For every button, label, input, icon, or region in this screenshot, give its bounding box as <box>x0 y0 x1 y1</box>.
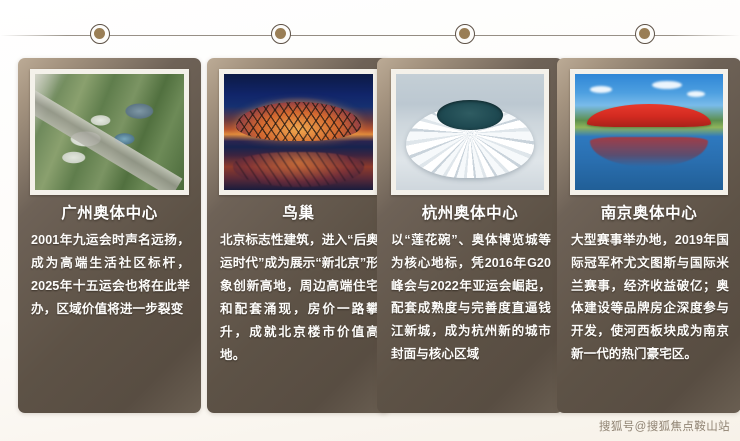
birds-nest-stadium-night-photo <box>224 74 373 190</box>
hangzhou-olympic-sports-center-lotus-bowl-photo <box>396 74 544 190</box>
watermark: 搜狐号@搜狐焦点鞍山站 <box>599 418 730 434</box>
card-body: 北京标志性建筑，进入“后奥运时代”成为展示“新北京”形象创新高地，周边高端住宅和… <box>220 229 379 366</box>
card-title: 广州奥体中心 <box>18 201 201 223</box>
card-list: 广州奥体中心 2001年九运会时声名远扬，成为高端生活社区标杆，2025年十五运… <box>0 58 740 418</box>
photo-frame <box>30 69 189 195</box>
card-body: 大型赛事举办地，2019年国际冠军杯尤文图斯与国际米兰赛事，经济收益破亿；奥体建… <box>571 229 729 366</box>
infographic-page: 广州奥体中心 2001年九运会时声名远扬，成为高端生活社区标杆，2025年十五运… <box>0 0 740 441</box>
card-body: 2001年九运会时声名远扬，成为高端生活社区标杆，2025年十五运会也将在此举办… <box>31 229 190 321</box>
card-birds-nest[interactable]: 鸟巢 北京标志性建筑，进入“后奥运时代”成为展示“新北京”形象创新高地，周边高端… <box>207 58 390 413</box>
photo-frame <box>570 69 728 195</box>
timeline-dot-2[interactable] <box>271 24 291 44</box>
timeline-dot-3[interactable] <box>455 24 475 44</box>
card-body: 以“莲花碗”、奥体博览城等为核心地标，凭2016年G20峰会与2022年亚运会崛… <box>391 229 551 366</box>
nanjing-olympic-sports-center-photo <box>575 74 723 190</box>
card-nanjing[interactable]: 南京奥体中心 大型赛事举办地，2019年国际冠军杯尤文图斯与国际米兰赛事，经济收… <box>557 58 740 413</box>
cloud-icon <box>590 86 612 93</box>
photo-frame <box>219 69 378 195</box>
cloud-icon <box>687 91 705 97</box>
timeline-dot-4[interactable] <box>635 24 655 44</box>
timeline-dot-1[interactable] <box>90 24 110 44</box>
card-hangzhou[interactable]: 杭州奥体中心 以“莲花碗”、奥体博览城等为核心地标，凭2016年G20峰会与20… <box>377 58 563 413</box>
timeline-line <box>0 35 740 36</box>
cloud-icon <box>652 81 682 89</box>
guangzhou-olympic-sports-center-aerial-photo <box>35 74 184 190</box>
timeline <box>0 0 740 62</box>
card-guangzhou[interactable]: 广州奥体中心 2001年九运会时声名远扬，成为高端生活社区标杆，2025年十五运… <box>18 58 201 413</box>
card-title: 南京奥体中心 <box>557 201 740 223</box>
photo-frame <box>391 69 549 195</box>
card-title: 鸟巢 <box>207 201 390 223</box>
card-title: 杭州奥体中心 <box>377 201 563 223</box>
